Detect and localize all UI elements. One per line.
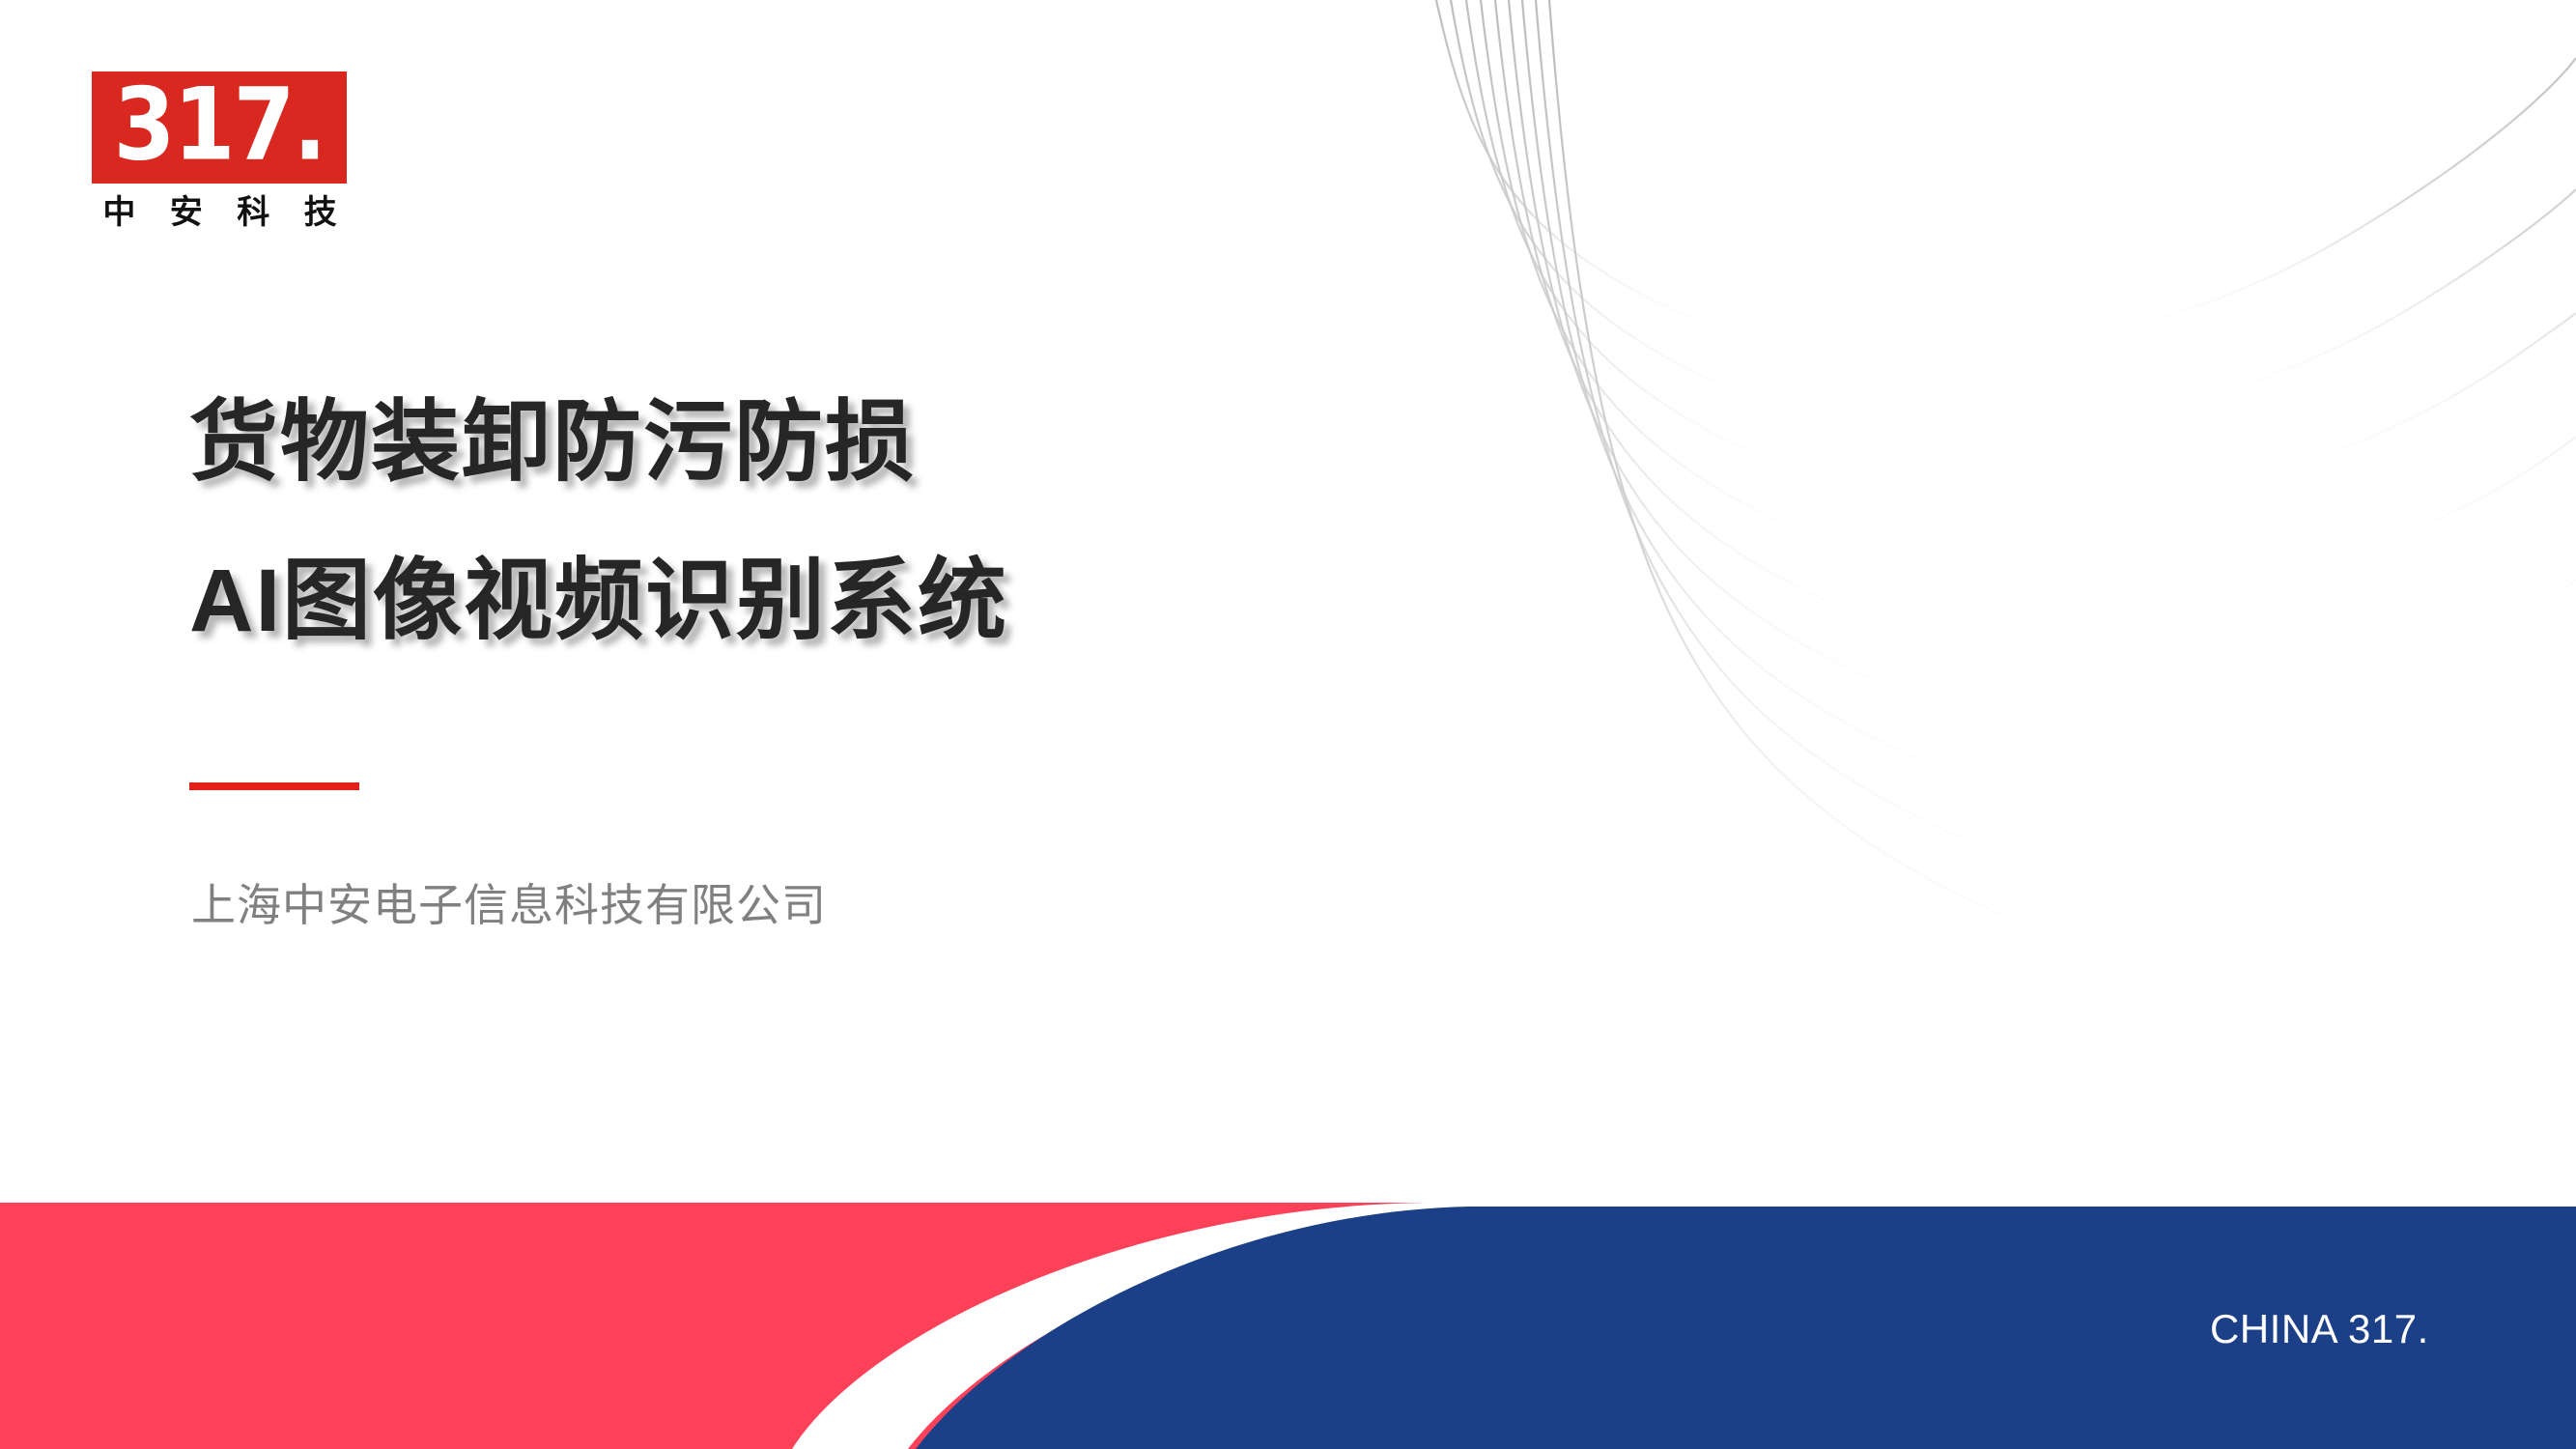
title-line-1: 货物装卸防污防损 [189, 386, 1542, 498]
page-title: 货物装卸防污防损 AI图像视频识别系统 [189, 386, 1542, 657]
footer-caption: CHINA 317. [2210, 1306, 2429, 1352]
title-divider-rule [189, 782, 359, 790]
company-name-subtitle: 上海中安电子信息科技有限公司 [191, 877, 827, 933]
logo-mark-text: 317. [114, 75, 326, 180]
logo-mark: 317. [92, 71, 347, 184]
company-logo: 317. 中 安 科 技 [92, 71, 351, 231]
footer-blue-swoosh [0, 1203, 2576, 1449]
footer-band [0, 1203, 2576, 1449]
logo-subtext: 中 安 科 技 [92, 194, 351, 231]
title-line-2: AI图像视频识别系统 [189, 545, 1542, 657]
presentation-slide: 317. 中 安 科 技 货物装卸防污防损 AI图像视频识别系统 上海中安电子信… [0, 0, 2576, 1449]
